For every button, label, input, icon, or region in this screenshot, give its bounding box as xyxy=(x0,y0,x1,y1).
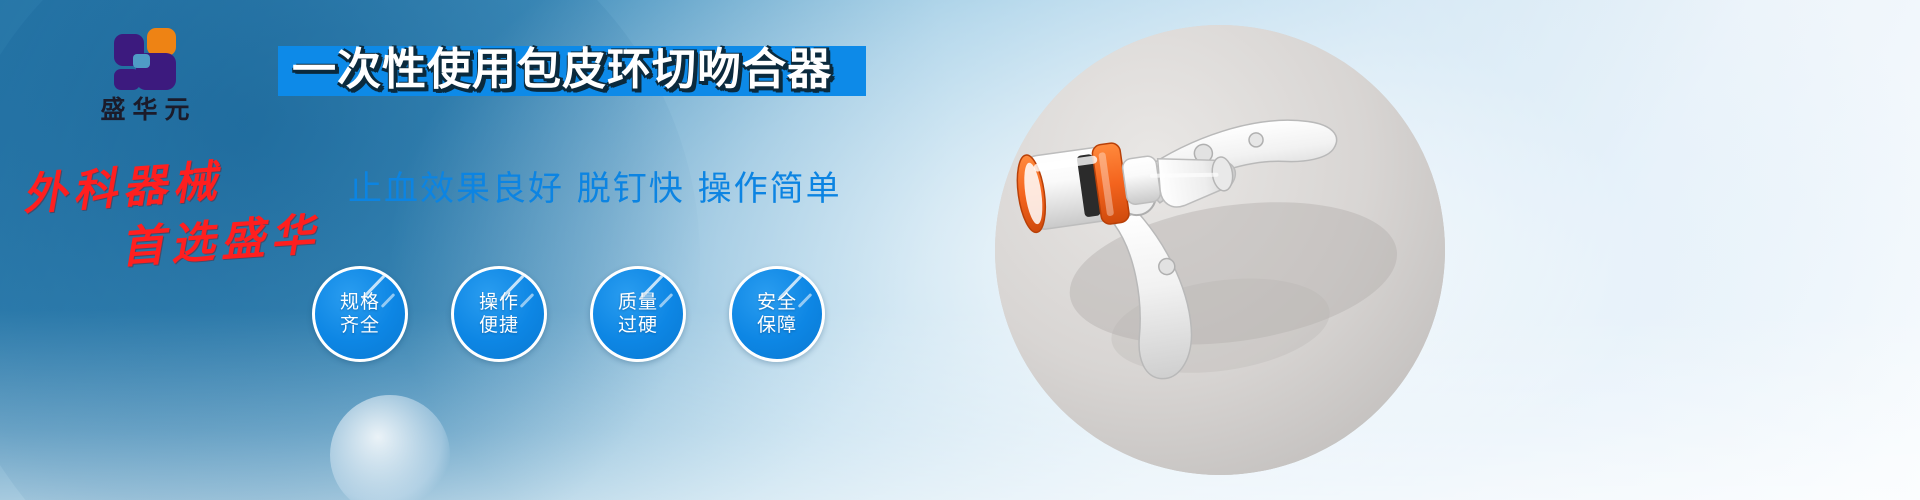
company-logo[interactable]: 盛华元 xyxy=(60,28,230,124)
badge-label-line2: 齐全 xyxy=(340,314,380,337)
badge-label: 规格 齐全 xyxy=(340,291,380,337)
logo-block-bottom-left xyxy=(114,69,140,90)
feature-badge-list: 规格 齐全 操作 便捷 质量 过硬 安全 保障 xyxy=(312,266,825,362)
page-title: 一次性使用包皮环切吻合器 xyxy=(292,44,832,96)
product-illustration-icon xyxy=(995,25,1445,475)
logo-block-top-right-orange xyxy=(147,28,176,56)
badge-label-line1: 规格 xyxy=(340,291,380,314)
badge-highlight-small-icon xyxy=(798,293,813,308)
logo-block-notch xyxy=(133,54,150,68)
badge-label-line1: 安全 xyxy=(757,291,797,314)
product-photo xyxy=(995,25,1445,475)
calligraphy-line-2: 首选盛华 xyxy=(118,198,322,276)
badge-label-line2: 过硬 xyxy=(618,314,658,337)
badge-highlight-small-icon xyxy=(520,293,535,308)
badge-label-line2: 保障 xyxy=(757,314,797,337)
badge-label: 操作 便捷 xyxy=(479,291,519,337)
badge-highlight-small-icon xyxy=(381,293,396,308)
feature-badge-operation-convenient[interactable]: 操作 便捷 xyxy=(451,266,547,362)
product-photo-inner xyxy=(995,25,1445,475)
badge-highlight-small-icon xyxy=(659,293,674,308)
decorative-bubble xyxy=(330,395,450,500)
logo-mark-icon xyxy=(114,28,176,90)
badge-label: 安全 保障 xyxy=(757,291,797,337)
subtitle-features: 止血效果良好 脱钉快 操作简单 xyxy=(348,167,842,211)
feature-badge-specifications-complete[interactable]: 规格 齐全 xyxy=(312,266,408,362)
badge-label-line1: 质量 xyxy=(618,291,658,314)
badge-label: 质量 过硬 xyxy=(618,291,658,337)
feature-badge-safety-guaranteed[interactable]: 安全 保障 xyxy=(729,266,825,362)
logo-company-name: 盛华元 xyxy=(60,96,230,124)
promotional-banner: 盛华元 一次性使用包皮环切吻合器 外科器械 首选盛华 止血效果良好 脱钉快 操作… xyxy=(0,0,1920,500)
feature-badge-quality-excellent[interactable]: 质量 过硬 xyxy=(590,266,686,362)
badge-label-line1: 操作 xyxy=(479,291,519,314)
badge-label-line2: 便捷 xyxy=(479,314,519,337)
